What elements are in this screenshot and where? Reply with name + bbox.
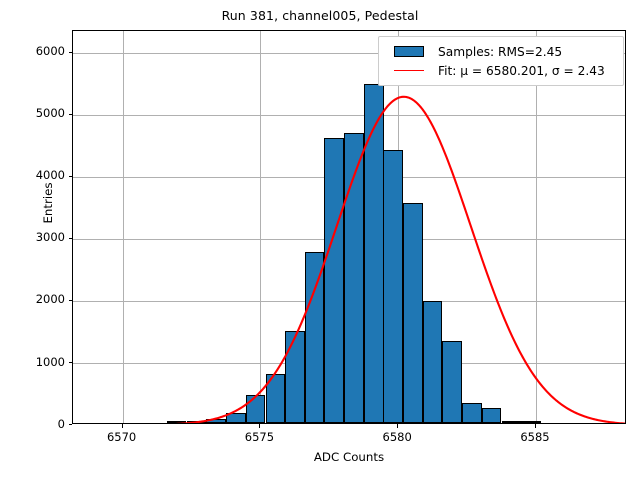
legend-line-swatch [386,70,432,71]
y-tick-label: 1000 [15,355,65,369]
list-item: Fit: μ = 6580.201, σ = 2.43 [386,61,616,80]
list-item: Samples: RMS=2.45 [386,42,616,61]
y-tick-mark [69,300,73,301]
x-tick-label: 6570 [92,430,152,444]
x-axis-label: ADC Counts [72,450,626,464]
y-tick-label: 0 [15,417,65,431]
y-tick-mark [69,424,73,425]
y-tick-mark [69,114,73,115]
y-tick-label: 4000 [15,168,65,182]
y-tick-mark [69,176,73,177]
legend-label-samples: Samples: RMS=2.45 [432,45,562,59]
page-title: Run 381, channel005, Pedestal [0,8,640,23]
gaussian-fit-curve [73,31,626,424]
x-tick-label: 6575 [229,430,289,444]
legend: Samples: RMS=2.45 Fit: μ = 6580.201, σ =… [378,36,624,86]
y-tick-label: 3000 [15,230,65,244]
y-tick-label: 5000 [15,106,65,120]
y-tick-label: 2000 [15,292,65,306]
y-axis-label: Entries [41,143,55,263]
x-tick-label: 6585 [505,430,565,444]
y-tick-mark [69,238,73,239]
x-tick-mark [259,424,260,428]
fit-path [73,97,626,424]
legend-label-fit: Fit: μ = 6580.201, σ = 2.43 [432,64,605,78]
y-tick-mark [69,52,73,53]
x-tick-label: 6580 [367,430,427,444]
x-tick-mark [122,424,123,428]
y-tick-mark [69,362,73,363]
y-tick-label: 6000 [15,44,65,58]
x-tick-mark [535,424,536,428]
legend-patch-swatch [386,46,432,57]
plot-area [72,30,626,424]
x-tick-mark [397,424,398,428]
histogram-figure: Run 381, channel005, Pedestal 6570657565… [0,0,640,480]
